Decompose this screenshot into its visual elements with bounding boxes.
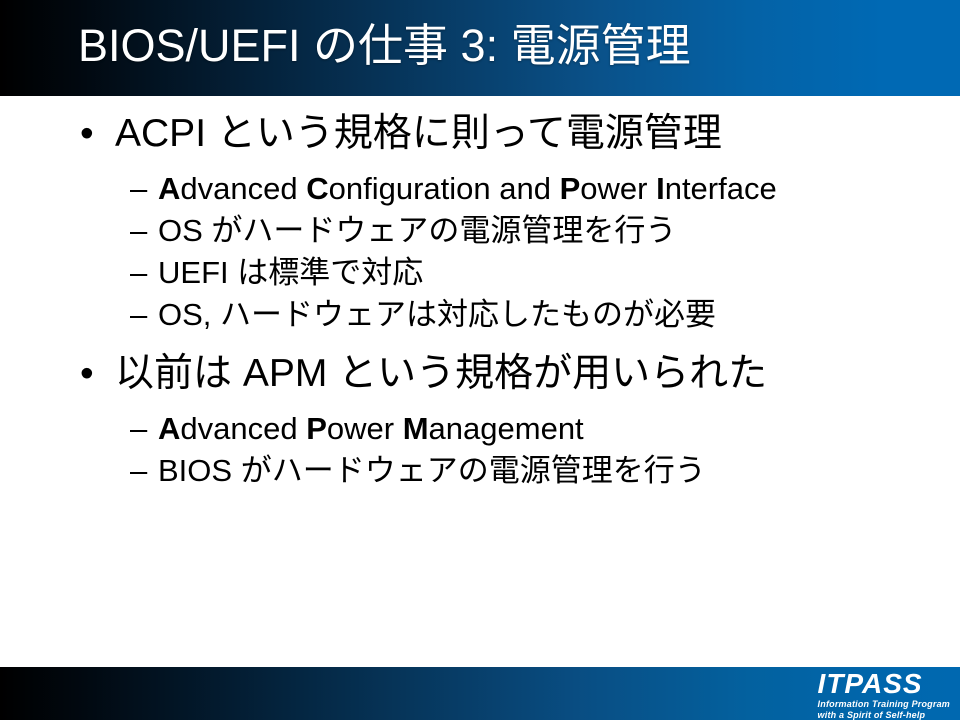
- bullet-level2-os-hardware-required-label: OS, ハードウェアは対応したものが必要: [158, 294, 958, 336]
- itpass-tagline-line1: Information Training Program: [818, 699, 950, 710]
- slide-header-band: BIOS/UEFI の仕事 3: 電源管理: [0, 0, 960, 96]
- bullet-level1-acpi: • ACPI という規格に則って電源管理: [0, 110, 960, 158]
- dash-icon: –: [130, 294, 147, 336]
- bullet-level2-uefi-standard: – UEFI は標準で対応: [0, 252, 958, 294]
- bullet-level2-apm-expansion: – Advanced Power Management: [0, 408, 958, 450]
- bullet-level2-acpi-expansion: – Advanced Configuration and Power Inter…: [0, 168, 958, 210]
- dash-icon: –: [130, 210, 147, 252]
- itpass-logo: ITPASS Information Training Program with…: [818, 669, 950, 720]
- bullet-level2-os-power-management-label: OS がハードウェアの電源管理を行う: [158, 210, 958, 252]
- dash-icon: –: [130, 252, 147, 294]
- bullet-level2-bios-power-management-label: BIOS がハードウェアの電源管理を行う: [158, 450, 958, 492]
- bullet-level2-os-hardware-required: – OS, ハードウェアは対応したものが必要: [0, 294, 958, 336]
- bullet-dot-icon: •: [80, 110, 94, 158]
- dash-icon: –: [130, 450, 147, 492]
- bullet-level1-apm: • 以前は APM という規格が用いられた: [0, 350, 960, 398]
- bullet-level2-os-power-management: – OS がハードウェアの電源管理を行う: [0, 210, 958, 252]
- slide-title: BIOS/UEFI の仕事 3: 電源管理: [78, 16, 691, 76]
- bullet-level2-bios-power-management: – BIOS がハードウェアの電源管理を行う: [0, 450, 958, 492]
- itpass-wordmark: ITPASS: [818, 669, 950, 699]
- dash-icon: –: [130, 408, 147, 450]
- slide-footer-band: ITPASS Information Training Program with…: [0, 667, 960, 720]
- bullet-level2-acpi-expansion-label: Advanced Configuration and Power Interfa…: [158, 168, 958, 210]
- bullet-level2-uefi-standard-label: UEFI は標準で対応: [158, 252, 958, 294]
- bullet-level1-acpi-label: ACPI という規格に則って電源管理: [115, 112, 722, 155]
- dash-icon: –: [130, 168, 147, 210]
- itpass-tagline-line2: with a Spirit of Self-help: [818, 710, 950, 720]
- bullet-level1-apm-label: 以前は APM という規格が用いられた: [115, 352, 767, 395]
- bullet-dot-icon: •: [80, 350, 94, 398]
- bullet-level2-apm-expansion-label: Advanced Power Management: [158, 408, 958, 450]
- slide-content-area: • ACPI という規格に則って電源管理 – Advanced Configur…: [0, 96, 960, 667]
